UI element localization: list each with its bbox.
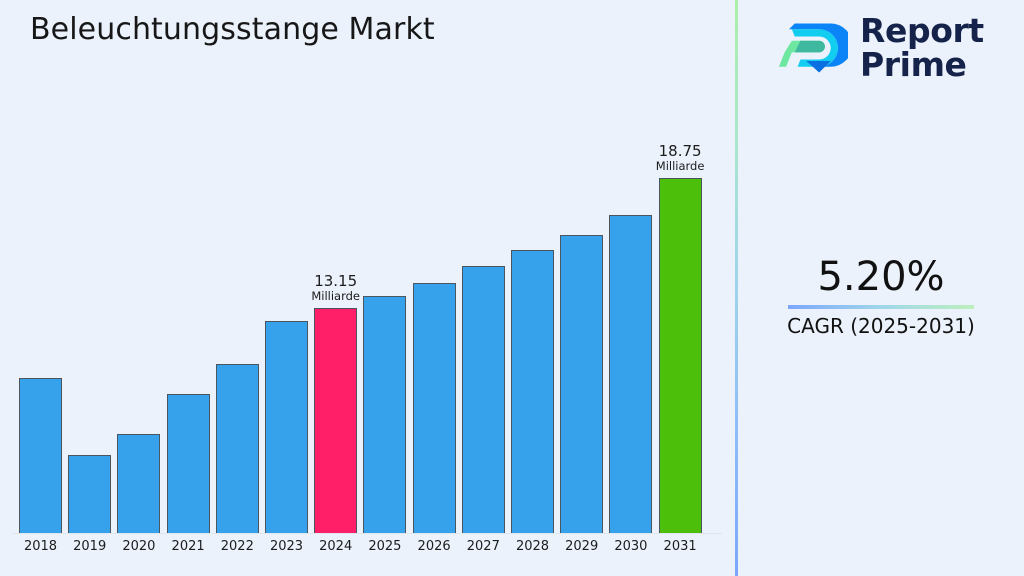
x-tick-2027: 2027: [462, 539, 505, 554]
bar-value-label-2024: 13.15Milliarde: [311, 273, 360, 302]
cagr-divider-rule: [788, 305, 974, 309]
x-tick-2020: 2020: [117, 539, 160, 554]
chart-page: Beleuchtungsstange Markt 13.15Milliarde1…: [0, 0, 1024, 576]
right-panel: Report Prime 5.20% CAGR (2025-2031): [738, 0, 1024, 576]
bar-unit-2031: Milliarde: [656, 160, 705, 172]
x-tick-2025: 2025: [363, 539, 406, 554]
x-tick-2021: 2021: [167, 539, 210, 554]
bar-rect-2018[interactable]: [19, 378, 62, 533]
bar-rect-2020[interactable]: [117, 434, 160, 533]
cagr-value: 5.20%: [738, 255, 1024, 299]
x-tick-2023: 2023: [265, 539, 308, 554]
logo-line-1: Report: [860, 14, 984, 48]
logo-line-2: Prime: [860, 48, 984, 82]
bar-unit-2024: Milliarde: [311, 290, 360, 302]
bar-rect-2027[interactable]: [462, 266, 505, 533]
bar-rect-2028[interactable]: [511, 250, 554, 533]
logo-wordmark: Report Prime: [860, 14, 984, 81]
bar-value-2024: 13.15: [311, 273, 360, 289]
bar-value-2031: 18.75: [656, 143, 705, 159]
x-tick-2019: 2019: [68, 539, 111, 554]
x-tick-2030: 2030: [609, 539, 652, 554]
report-prime-logo: Report Prime: [776, 12, 984, 84]
x-tick-2031: 2031: [659, 539, 702, 554]
bar-rect-2030[interactable]: [609, 215, 652, 533]
cagr-label: CAGR (2025-2031): [738, 314, 1024, 338]
bar-value-label-2031: 18.75Milliarde: [656, 143, 705, 172]
bar-rect-2031[interactable]: [659, 178, 702, 533]
x-tick-2029: 2029: [560, 539, 603, 554]
bar-rect-2022[interactable]: [216, 364, 259, 533]
x-tick-2022: 2022: [216, 539, 259, 554]
bar-rect-2029[interactable]: [560, 235, 603, 533]
bar-chart: 13.15Milliarde18.75Milliarde 20182019202…: [0, 0, 735, 576]
x-tick-2028: 2028: [511, 539, 554, 554]
x-tick-2026: 2026: [413, 539, 456, 554]
bar-rect-2026[interactable]: [413, 283, 456, 533]
cagr-block: 5.20% CAGR (2025-2031): [738, 255, 1024, 338]
bar-rect-2023[interactable]: [265, 321, 308, 533]
x-tick-2018: 2018: [19, 539, 62, 554]
bar-rect-2019[interactable]: [68, 455, 111, 533]
bar-rect-2025[interactable]: [363, 296, 406, 533]
x-tick-2024: 2024: [314, 539, 357, 554]
x-axis-line: [12, 533, 722, 534]
bar-rect-2024[interactable]: [314, 308, 357, 533]
bar-rect-2021[interactable]: [167, 394, 210, 533]
report-prime-mark-icon: [776, 12, 848, 84]
